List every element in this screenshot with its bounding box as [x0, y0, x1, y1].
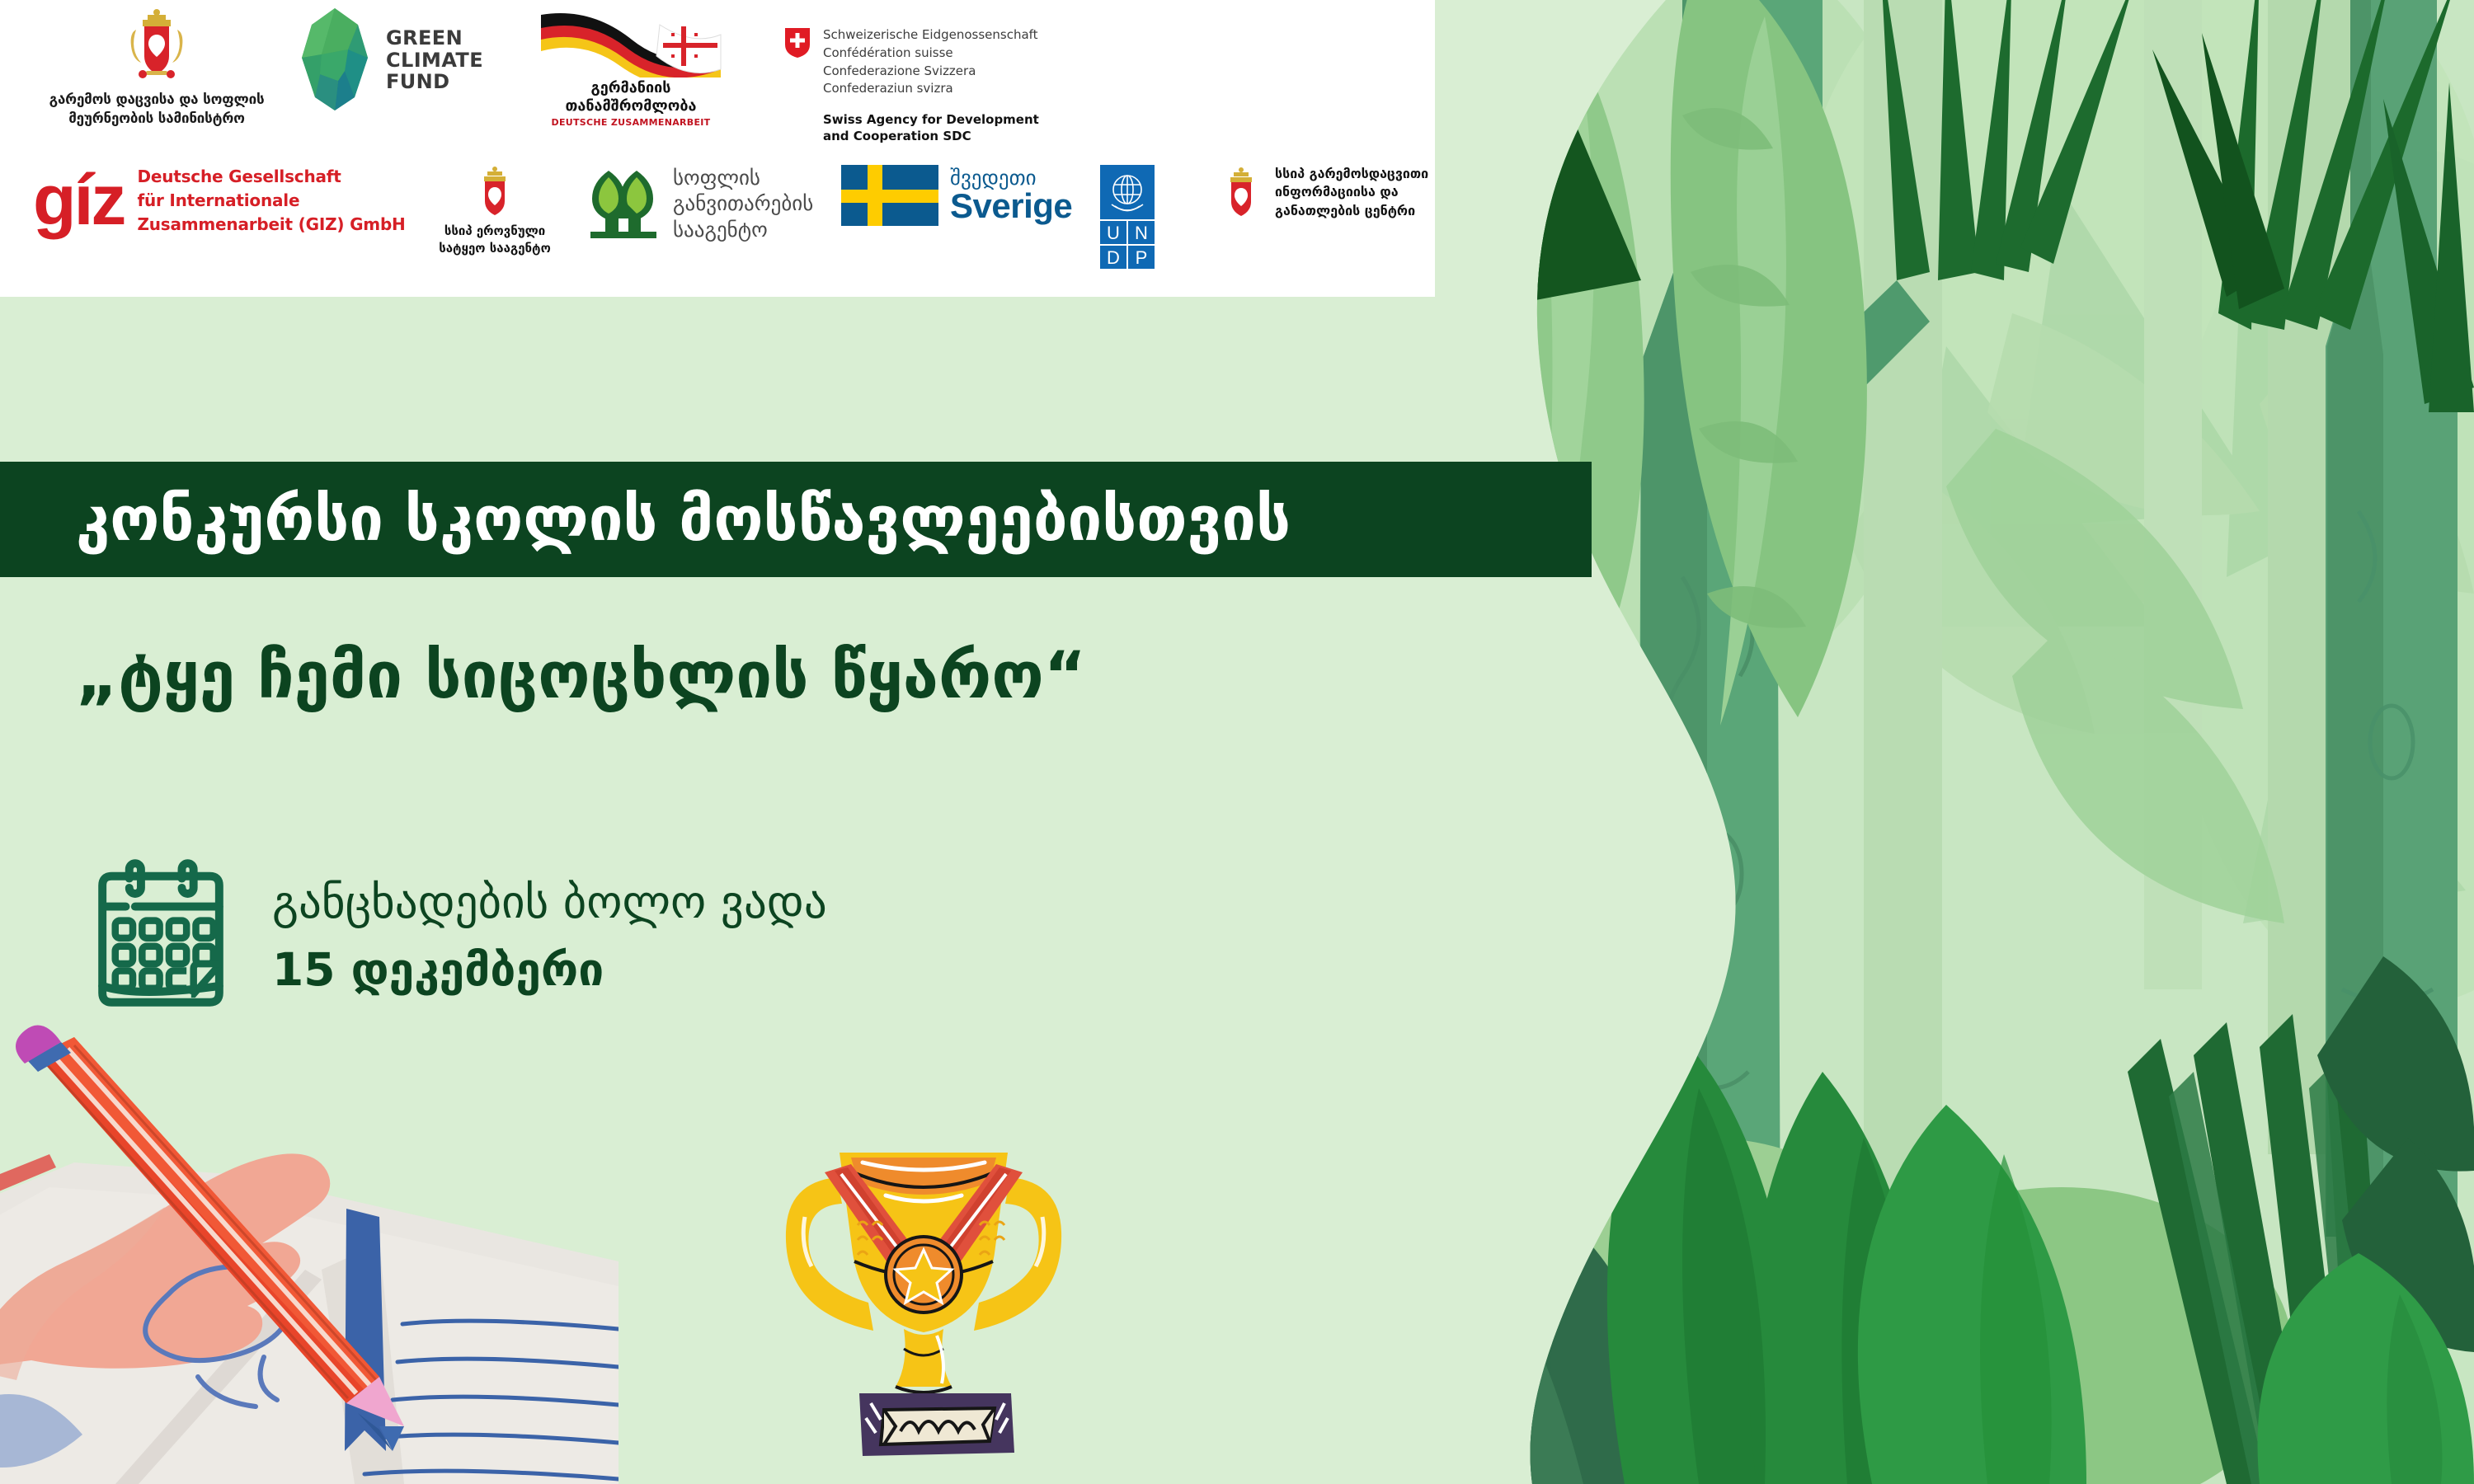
hand-writing-notebook-illustration	[0, 1022, 618, 1484]
deadline-block: განცხადების ბოლო ვადა 15 დეკემბერი	[91, 857, 827, 1014]
deadline-label: განცხადების ბოლო ვადა	[272, 876, 827, 928]
logo-swiss-agency-label: Swiss Agency for Development and Coopera…	[823, 111, 1039, 145]
logo-undp: UN DP	[1080, 165, 1212, 269]
logo-national-forestry-agency: სსიპ ეროვნული სატყეო სააგენტო	[421, 165, 569, 257]
georgia-coat-of-arms-icon	[1219, 166, 1263, 220]
deadline-date: 15 დეკემბერი	[272, 943, 827, 996]
logo-environmental-info-center: სსიპ გარემოსდაცვითი ინფორმაციისა და განა…	[1212, 165, 1484, 220]
poster-canvas: გარემოს დაცვისა და სოფლის მეურნეობის სამ…	[0, 0, 2474, 1484]
logo-ministry-label: გარემოს დაცვისა და სოფლის მეურნეობის სამ…	[49, 91, 265, 129]
logo-giz: gíz Deutsche Gesellschaft für Internatio…	[33, 165, 421, 237]
giz-label: Deutsche Gesellschaft für Internationale…	[137, 165, 405, 237]
logo-gcf-label: GREEN CLIMATE FUND	[386, 27, 483, 94]
logo-row-2: gíz Deutsche Gesellschaft für Internatio…	[33, 165, 1484, 289]
logo-rda-label: სოფლის განვითარების სააგენტო	[673, 165, 813, 242]
svg-text:P: P	[1136, 247, 1148, 268]
forest-background-illustration	[1435, 0, 2474, 1484]
sweden-flag-icon	[841, 165, 938, 226]
svg-text:N: N	[1135, 223, 1148, 243]
trees-house-icon	[586, 167, 661, 240]
logo-swiss-sdc: Schweizerische Eidgenossenschaft Confédé…	[750, 7, 1097, 145]
logo-eic-label: სსიპ გარემოსდაცვითი ინფორმაციისა და განა…	[1275, 165, 1428, 220]
logo-row-1: გარემოს დაცვისა და სოფლის მეურნეობის სამ…	[33, 7, 1097, 139]
logo-sweden-en-label: Sverige	[950, 189, 1072, 223]
logo-green-climate-fund: GREEN CLIMATE FUND	[280, 7, 511, 114]
german-georgian-flags-icon	[536, 7, 726, 77]
partner-logos-header: გარემოს დაცვისა და სოფლის მეურნეობის სამ…	[0, 0, 1435, 297]
georgia-coat-of-arms-icon	[121, 7, 192, 86]
page-title: კონკურსი სკოლის მოსწავლეებისთვის	[0, 484, 1291, 555]
contest-subtitle: „ტყე ჩემი სიცოცხლის წყარო“	[76, 639, 1086, 713]
logo-sweden: შვედეთი Sverige	[833, 165, 1080, 226]
logo-german-de-label: DEUTSCHE ZUSAMMENARBEIT	[552, 117, 711, 128]
logo-swiss-lines: Schweizerische Eidgenossenschaft Confédé…	[823, 26, 1039, 98]
svg-text:D: D	[1107, 247, 1120, 268]
logo-german-ka-label: გერმანიის თანამშრომლობა	[565, 79, 696, 115]
logo-rural-development-agency: სოფლის განვითარების სააგენტო	[569, 165, 833, 242]
undp-logo-icon: UN DP	[1100, 165, 1155, 269]
logo-nfa-label: სსიპ ეროვნული სატყეო სააგენტო	[439, 223, 551, 257]
gcf-gem-icon	[297, 7, 373, 114]
gold-trophy-illustration	[742, 1138, 1105, 1484]
title-banner: კონკურსი სკოლის მოსწავლეებისთვის	[0, 462, 1592, 577]
swiss-shield-icon	[783, 26, 811, 59]
giz-wordmark: gíz	[33, 172, 124, 229]
logo-ministry-of-environment: გარემოს დაცვისა და სოფლის მეურნეობის სამ…	[33, 7, 280, 129]
georgia-coat-of-arms-icon	[473, 165, 517, 219]
calendar-icon	[91, 857, 231, 1014]
svg-text:U: U	[1107, 223, 1120, 243]
logo-german-cooperation: გერმანიის თანამშრომლობა DEUTSCHE ZUSAMME…	[511, 7, 750, 128]
